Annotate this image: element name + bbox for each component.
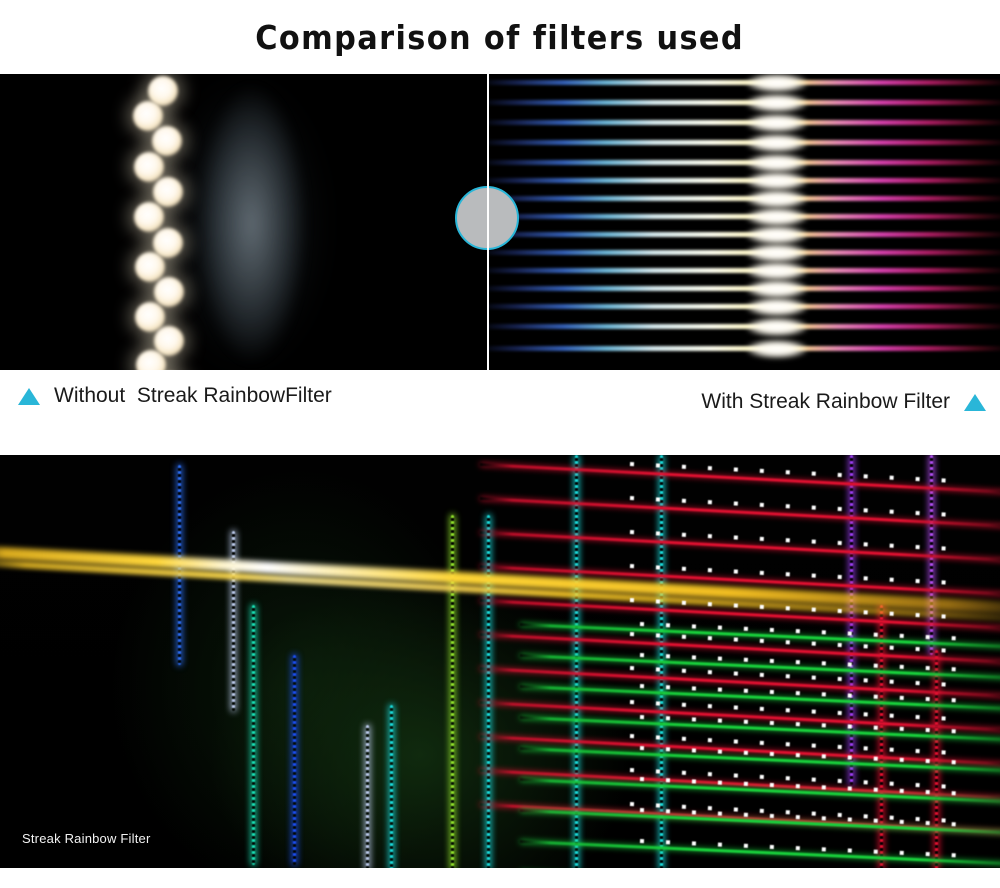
rainbow-streak <box>489 266 1000 276</box>
product-comparison-page: Comparison of filters used Without Strea… <box>0 0 1000 888</box>
bokeh-light-dot <box>134 202 164 232</box>
streak-light-core <box>747 190 807 208</box>
hero-sample-photo: Streak Rainbow Filter <box>0 455 1000 868</box>
rainbow-streak <box>489 118 1000 128</box>
streak-spectrum-band <box>489 140 1000 145</box>
streak-light-core <box>747 172 807 190</box>
rainbow-streak <box>489 230 1000 240</box>
title-bar: Comparison of filters used <box>0 0 1000 74</box>
rainbow-streak <box>489 158 1000 168</box>
comparison-left-photo <box>0 74 487 370</box>
rainbow-streak <box>489 284 1000 294</box>
hero-caption: Streak Rainbow Filter <box>22 831 150 846</box>
streak-spectrum-band <box>489 100 1000 105</box>
comparison-right-photo <box>489 74 1000 370</box>
streak-light-core <box>747 208 807 226</box>
rainbow-streak <box>489 212 1000 222</box>
caption-with-filter-label: With Streak Rainbow Filter <box>701 390 950 414</box>
vertical-led-tube <box>390 705 393 868</box>
vertical-led-tube <box>575 455 578 868</box>
rainbow-streak <box>489 322 1000 332</box>
streak-spectrum-band <box>489 268 1000 273</box>
caption-without-filter: Without Streak RainbowFilter <box>18 384 332 408</box>
vertical-led-tube <box>232 531 235 711</box>
streak-spectrum-band <box>489 214 1000 219</box>
streak-light-core <box>747 298 807 316</box>
bokeh-light-dot <box>133 101 163 131</box>
rainbow-streak <box>489 194 1000 204</box>
streak-light-core <box>747 318 807 336</box>
vertical-led-tube <box>451 515 454 868</box>
streak-spectrum-band <box>489 304 1000 309</box>
page-title: Comparison of filters used <box>256 18 745 57</box>
bokeh-light-dot <box>153 177 183 207</box>
streak-light-core <box>747 134 807 152</box>
left-glow-column <box>150 74 320 370</box>
streak-light-core <box>747 280 807 298</box>
streak-light-core <box>747 244 807 262</box>
triangle-up-icon <box>964 394 986 411</box>
streak-spectrum-band <box>489 232 1000 237</box>
caption-with-filter: With Streak Rainbow Filter <box>701 390 986 414</box>
rainbow-streak <box>489 98 1000 108</box>
streak-light-core <box>747 154 807 172</box>
caption-without-filter-label: Without Streak RainbowFilter <box>54 384 332 408</box>
vertical-led-tube <box>293 655 296 865</box>
streak-spectrum-band <box>489 250 1000 255</box>
bokeh-light-dot <box>154 277 184 307</box>
streak-spectrum-band <box>489 196 1000 201</box>
vertical-led-tube <box>366 725 369 868</box>
bokeh-light-dot <box>134 152 164 182</box>
streak-light-core <box>747 94 807 112</box>
rainbow-streak <box>489 176 1000 186</box>
streak-light-core <box>747 340 807 358</box>
streak-light-core <box>747 114 807 132</box>
streak-spectrum-band <box>489 324 1000 329</box>
rainbow-streak <box>489 344 1000 354</box>
rainbow-streak <box>489 248 1000 258</box>
streak-spectrum-band <box>489 178 1000 183</box>
bokeh-light-dot <box>135 252 165 282</box>
rainbow-streak <box>489 138 1000 148</box>
comparison-divider-line[interactable] <box>487 74 489 370</box>
rainbow-streak <box>489 78 1000 88</box>
rainbow-streak <box>489 302 1000 312</box>
streak-light-core <box>747 226 807 244</box>
bokeh-light-dot <box>152 126 182 156</box>
streak-light-core <box>747 74 807 92</box>
vertical-led-tube <box>252 605 255 865</box>
streak-spectrum-band <box>489 286 1000 291</box>
streak-light-core <box>747 262 807 280</box>
streak-spectrum-band <box>489 120 1000 125</box>
streak-spectrum-band <box>489 80 1000 85</box>
streak-spectrum-band <box>489 346 1000 351</box>
streak-spectrum-band <box>489 160 1000 165</box>
triangle-up-icon <box>18 388 40 405</box>
comparison-captions: Without Streak RainbowFilter With Streak… <box>0 370 1000 455</box>
